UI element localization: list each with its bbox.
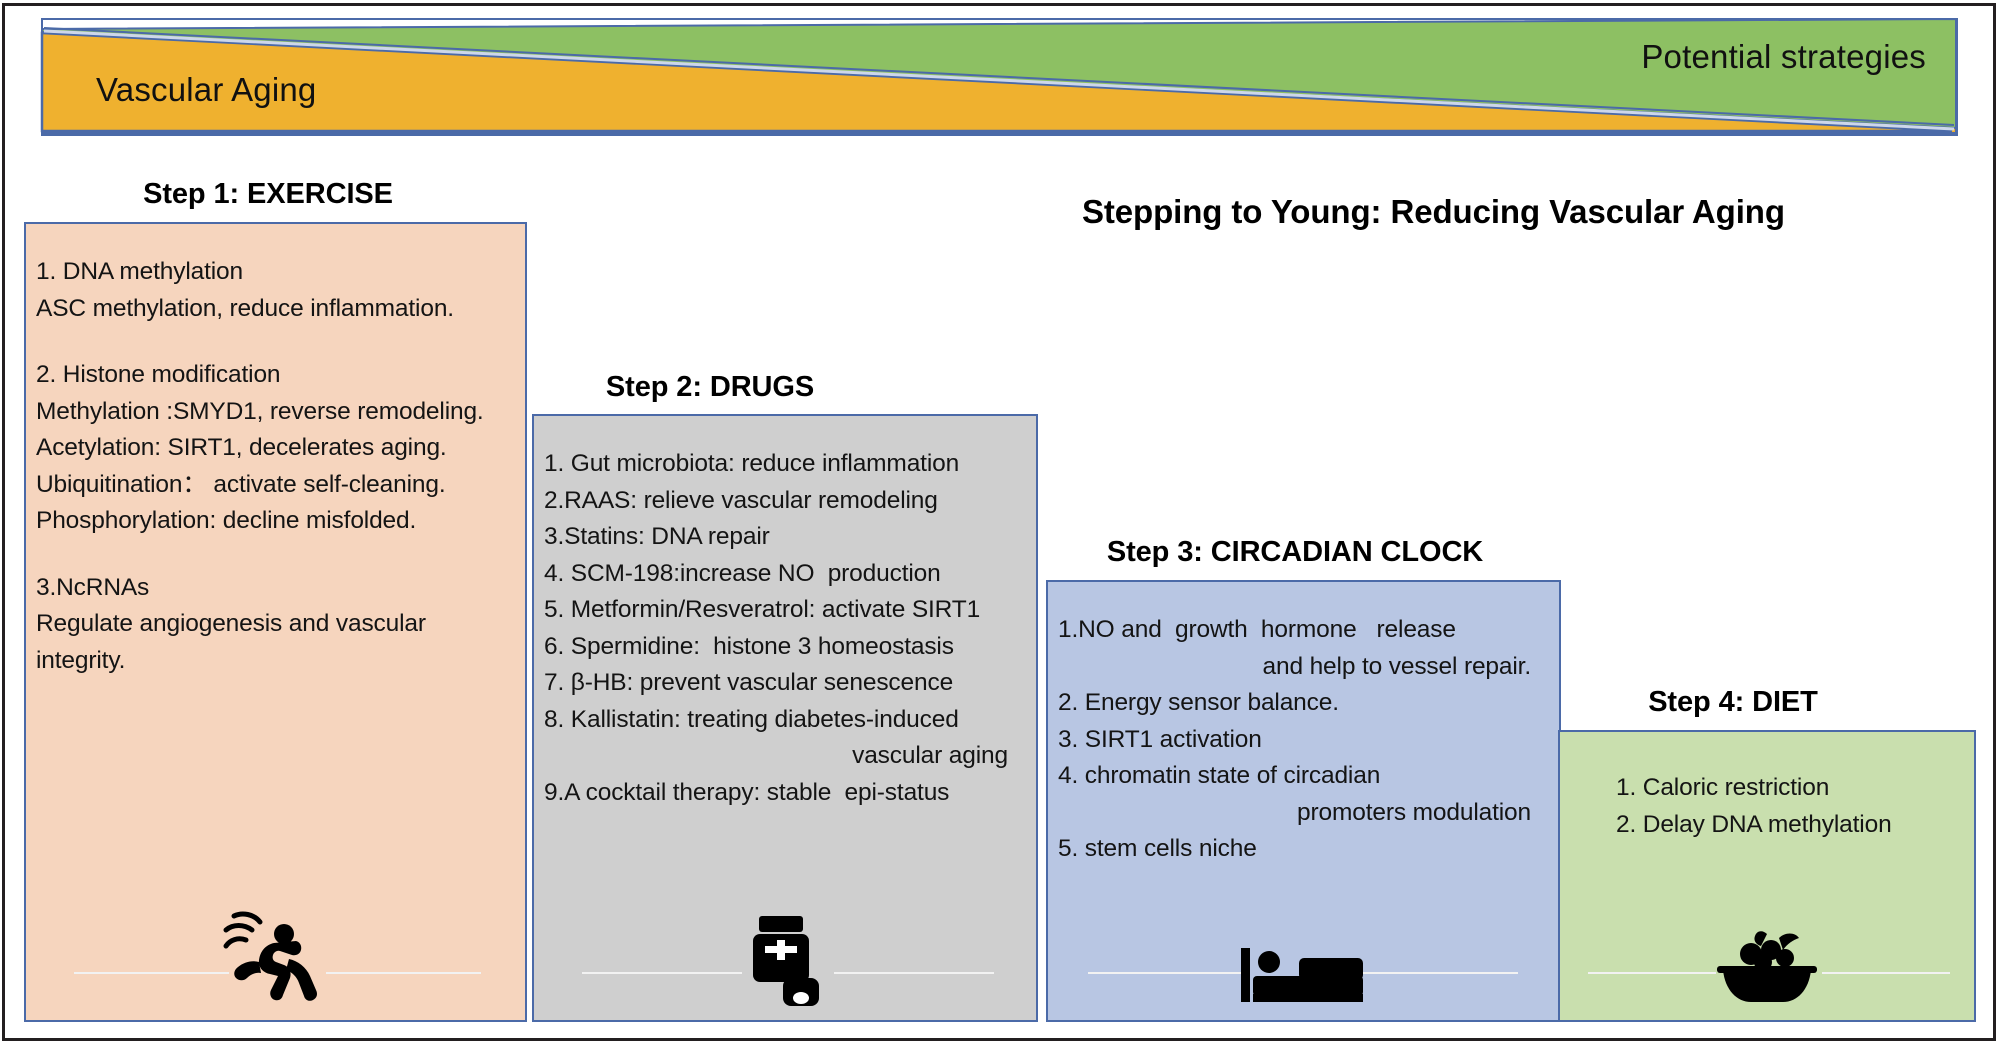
step-heading-drugs: Step 2: DRUGS xyxy=(560,371,860,404)
list-item: 8. Kallistatin: treating diabetes-induce… xyxy=(544,702,1026,739)
step-heading-exercise: Step 1: EXERCISE xyxy=(108,178,428,211)
step-heading-diet: Step 4: DIET xyxy=(1588,686,1878,719)
list-spacer xyxy=(36,540,515,570)
list-item: 9.A cocktail therapy: stable epi-status xyxy=(544,775,1026,812)
list-item: Phosphorylation: decline misfolded. xyxy=(36,503,515,540)
step-box-drugs: 1. Gut microbiota: reduce inflammation2.… xyxy=(532,414,1038,1022)
list-item: 4. SCM-198:increase NO production xyxy=(544,556,1026,593)
list-item: 2. Energy sensor balance. xyxy=(1058,685,1549,722)
list-item: 1.NO and growth hormone release xyxy=(1058,612,1549,649)
list-item: Ubiquitination： activate self-cleaning. xyxy=(36,467,515,504)
list-item: 3. SIRT1 activation xyxy=(1058,722,1549,759)
pill-bottle-icon xyxy=(739,914,831,1010)
step-box-diet: 1. Caloric restriction2. Delay DNA methy… xyxy=(1558,730,1976,1022)
list-spacer xyxy=(36,327,515,357)
list-item: 2. Histone modification xyxy=(36,357,515,394)
step-list-diet: 1. Caloric restriction2. Delay DNA methy… xyxy=(1560,732,1974,843)
list-item: Acetylation: SIRT1, decelerates aging. xyxy=(36,430,515,467)
bed-rest-icon xyxy=(1239,944,1369,1006)
list-item: 7. β-HB: prevent vascular senescence xyxy=(544,665,1026,702)
page-title: Stepping to Young: Reducing Vascular Agi… xyxy=(1082,193,1785,231)
banner-right-label: Potential strategies xyxy=(1641,38,1926,76)
runner-icon xyxy=(216,910,336,1006)
list-item: 5. stem cells niche xyxy=(1058,831,1549,868)
banner-left-label: Vascular Aging xyxy=(96,71,317,109)
list-item: 1. Caloric restriction xyxy=(1616,770,1964,807)
list-item: 3.NcRNAs xyxy=(36,570,515,607)
figure-root: Vascular Aging Potential strategies Step… xyxy=(0,0,2000,1044)
step-list-circadian: 1.NO and growth hormone releaseand help … xyxy=(1048,582,1559,868)
step-list-drugs: 1. Gut microbiota: reduce inflammation2.… xyxy=(534,416,1036,811)
list-item: vascular aging xyxy=(544,738,1026,775)
list-item: 1. Gut microbiota: reduce inflammation xyxy=(544,446,1026,483)
list-item: 5. Metformin/Resveratrol: activate SIRT1 xyxy=(544,592,1026,629)
list-item: 2. Delay DNA methylation xyxy=(1616,807,1964,844)
fruit-bowl-icon xyxy=(1713,928,1821,1008)
step-box-circadian: 1.NO and growth hormone releaseand help … xyxy=(1046,580,1561,1022)
list-item: 3.Statins: DNA repair xyxy=(544,519,1026,556)
list-item: integrity. xyxy=(36,643,515,680)
list-item: Regulate angiogenesis and vascular xyxy=(36,606,515,643)
step-box-exercise: 1. DNA methylationASC methylation, reduc… xyxy=(24,222,527,1022)
list-item: 1. DNA methylation xyxy=(36,254,515,291)
step-heading-circadian: Step 3: CIRCADIAN CLOCK xyxy=(1055,536,1535,569)
list-item: 6. Spermidine: histone 3 homeostasis xyxy=(544,629,1026,666)
banner-wedge: Vascular Aging Potential strategies xyxy=(34,15,1958,139)
list-item: ASC methylation, reduce inflammation. xyxy=(36,291,515,328)
list-item: and help to vessel repair. xyxy=(1058,649,1549,686)
list-item: 2.RAAS: relieve vascular remodeling xyxy=(544,483,1026,520)
list-item: Methylation :SMYD1, reverse remodeling. xyxy=(36,394,515,431)
list-item: promoters modulation xyxy=(1058,795,1549,832)
step-list-exercise: 1. DNA methylationASC methylation, reduc… xyxy=(26,224,525,679)
list-item: 4. chromatin state of circadian xyxy=(1058,758,1549,795)
